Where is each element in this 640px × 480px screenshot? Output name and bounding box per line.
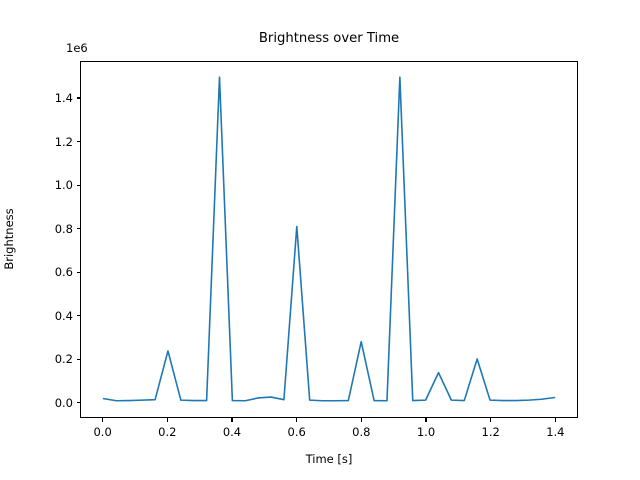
x-tick-label: 0.4 [210, 425, 254, 439]
x-tick-label: 0.0 [81, 425, 125, 439]
x-axis-label: Time [s] [80, 452, 578, 466]
plot-area [80, 61, 578, 418]
matplotlib-figure: Brightness over Time 1e6 0.00.20.40.60.8… [0, 0, 640, 480]
y-axis-label: Brightness [2, 208, 16, 269]
y-tick-label: 1.0 [29, 178, 73, 192]
x-tick-mark [361, 418, 362, 422]
y-tick-label: 0.4 [29, 309, 73, 323]
x-tick-label: 1.2 [469, 425, 513, 439]
x-tick-mark [102, 418, 103, 422]
x-tick-label: 0.2 [145, 425, 189, 439]
y-tick-label: 1.2 [29, 135, 73, 149]
x-tick-mark [425, 418, 426, 422]
x-tick-mark [231, 418, 232, 422]
x-tick-mark [490, 418, 491, 422]
y-axis-offset-text: 1e6 [66, 41, 88, 55]
y-tick-label: 0.2 [29, 352, 73, 366]
x-tick-label: 0.8 [339, 425, 383, 439]
x-tick-label: 1.4 [533, 425, 577, 439]
x-tick-label: 0.6 [275, 425, 319, 439]
x-tick-label: 1.0 [404, 425, 448, 439]
x-tick-mark [555, 418, 556, 422]
brightness-line-series [104, 77, 555, 401]
chart-title: Brightness over Time [80, 31, 578, 46]
y-tick-label: 1.4 [29, 91, 73, 105]
data-line-svg [81, 62, 577, 417]
y-tick-label: 0.0 [29, 396, 73, 410]
y-tick-label: 0.8 [29, 222, 73, 236]
x-tick-mark [167, 418, 168, 422]
y-tick-label: 0.6 [29, 265, 73, 279]
x-tick-mark [296, 418, 297, 422]
